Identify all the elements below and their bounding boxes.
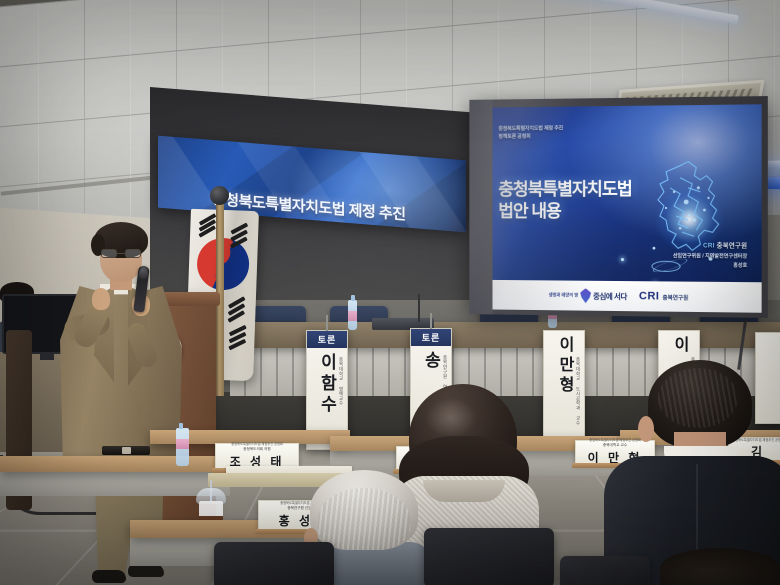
slide-title: 충청북특별자치도법 법안 내용 (498, 178, 632, 223)
slide-dot (688, 214, 690, 216)
water-bottle (348, 300, 357, 330)
placard-name: 이함수 (319, 348, 336, 423)
chungbuk-logo-mark-icon (580, 288, 591, 303)
cri-logo: CRI 충북연구원 (639, 290, 688, 303)
presenter-hand (92, 288, 110, 310)
presenter-belt (102, 446, 150, 455)
foreground-chair (424, 528, 554, 585)
placard-name: 이만형 (556, 331, 572, 403)
cri-logo-abbr: CRI (639, 290, 659, 302)
water-bottle (176, 428, 189, 466)
slide-dot (621, 258, 624, 261)
slide-title-line-2: 법안 내용 (498, 200, 632, 222)
presentation-slide: 충청북도특별자치도법 제정 추진 정책토론 공청회 충청북특별자치도법 법안 내… (479, 104, 762, 312)
dark-haired-attendee (660, 548, 780, 585)
chungbuk-logo-small-text: 생명과 태양의 땅 (549, 293, 579, 298)
slide-footer-logo-bar: 생명과 태양의 땅 중심에 서다 CRI 충북연구원 (479, 280, 762, 313)
placard-role: 토론 (307, 331, 347, 348)
slide-header-line-2: 정책토론 공청회 (498, 133, 563, 141)
chungbuk-brand-logo: 생명과 태양의 땅 중심에 서다 (549, 288, 627, 304)
foreground-chair (560, 556, 650, 585)
slide-credit-role: 선임연구위원 / 지역발전연구센터장 (673, 252, 747, 261)
panel-placard: 이만형 충북대학교 도시공학과 교수 (543, 330, 585, 438)
slide-credit-org-name: 충북연구원 (717, 243, 748, 250)
slide-title-line-1: 충청북특별자치도법 (498, 178, 632, 201)
slide-credit-person: 홍성호 (673, 261, 747, 270)
attendee-ear (638, 416, 654, 442)
slide-credit-org: CRI 충북연구원 (673, 242, 747, 253)
attendee-hair (310, 470, 418, 550)
table-microphone-stand (418, 294, 420, 322)
hair-highlight (425, 398, 477, 438)
jacket-collar (423, 480, 505, 502)
projection-screen: 충청북도특별자치도법 제정 추진 정책토론 공청회 충청북특별자치도법 법안 내… (469, 96, 767, 318)
placard-role: 토론 (411, 329, 451, 346)
presenter-shoe (92, 570, 126, 583)
slide-credit: CRI 충북연구원 선임연구위원 / 지역발전연구센터장 홍성호 (673, 242, 747, 270)
chungbuk-logo-main-text: 중심에 서다 (593, 290, 627, 301)
placard-affiliation: 충북대학교 도시공학과 교수 (574, 357, 581, 425)
screen-shadow-edge (469, 100, 492, 315)
foreground-chair (214, 542, 334, 585)
name-card-title-line: 충청북도의회 의원 (243, 447, 270, 452)
front-table (0, 456, 230, 472)
slide-header-line-1: 충청북도특별자치도법 제정 추진 (498, 126, 563, 134)
slide-header: 충청북도특별자치도법 제정 추진 정책토론 공청회 (498, 126, 563, 141)
cri-logo-full: 충북연구원 (662, 293, 688, 301)
slide-credit-org-abbr: CRI (703, 243, 715, 250)
conference-hall-photo: 충청북도특별자치도법 제정 추진 충청북도특별자치도법 제정 추진 충청북도특별… (0, 0, 780, 585)
flag-pole-finial (210, 186, 229, 205)
placard-affiliation: 충북대학교 명예교수 (337, 357, 344, 406)
eyeglasses-icon (100, 249, 142, 259)
